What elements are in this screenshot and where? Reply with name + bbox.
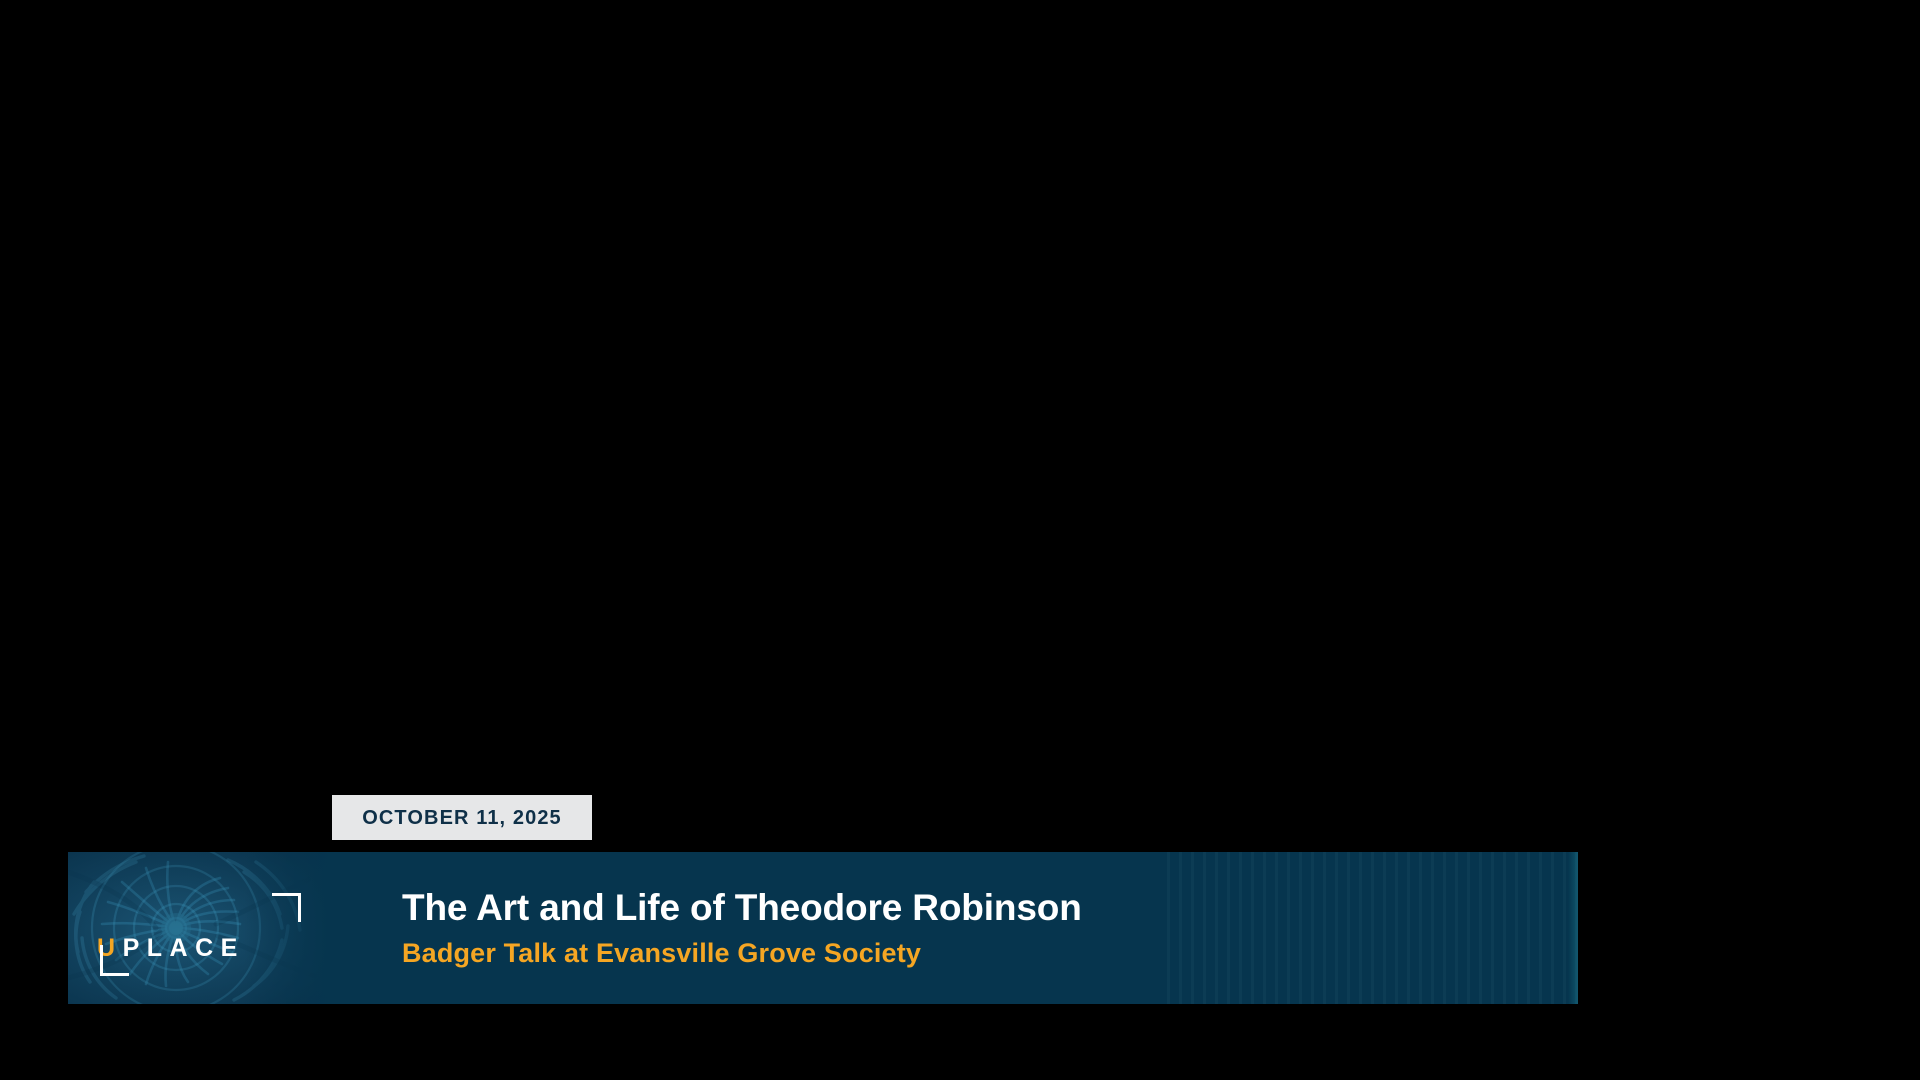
event-banner[interactable]: UPLACE The Art and Life of Theodore Robi… bbox=[68, 852, 1578, 1004]
banner-text-block: The Art and Life of Theodore Robinson Ba… bbox=[330, 852, 1578, 1004]
wordmark-accent-letter: U bbox=[97, 936, 123, 961]
page-root: OCTOBER 11, 2025 bbox=[0, 0, 1920, 1080]
ammonite-fossil-icon bbox=[68, 852, 330, 1004]
date-badge-label: OCTOBER 11, 2025 bbox=[362, 808, 562, 828]
date-badge: OCTOBER 11, 2025 bbox=[332, 795, 592, 840]
uplace-logo-panel: UPLACE bbox=[68, 852, 330, 1004]
event-subtitle: Badger Talk at Evansville Grove Society bbox=[402, 938, 1538, 969]
event-title: The Art and Life of Theodore Robinson bbox=[402, 887, 1538, 929]
uplace-wordmark: UPLACE bbox=[97, 936, 245, 961]
wordmark-text: PLACE bbox=[123, 936, 245, 961]
